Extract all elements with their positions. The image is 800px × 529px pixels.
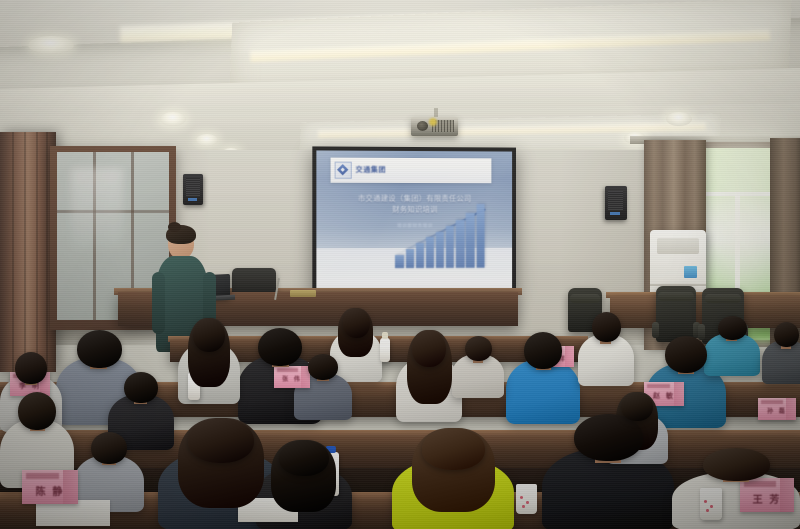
name-card-header [744, 481, 775, 486]
audience-head [665, 336, 707, 373]
name-card-header [761, 400, 783, 404]
audience-head [774, 322, 799, 347]
paper-cup-center-front [516, 484, 537, 514]
name-card-row2-mid: 张 伟 [274, 366, 310, 388]
audience-head [18, 392, 56, 430]
cup-heart-pattern [526, 501, 529, 504]
name-card-front-left: 陈 静 [22, 470, 78, 504]
cup-heart-pattern [522, 505, 525, 508]
audience-head [91, 432, 127, 464]
audience-head [465, 336, 492, 361]
audience-head [703, 448, 770, 481]
cup-heart-pattern [704, 500, 707, 503]
audience-head [124, 372, 158, 403]
name-card-header [26, 473, 58, 478]
audience-head [77, 330, 122, 368]
audience-head [279, 440, 329, 476]
audience-head [524, 332, 562, 369]
audience-head [343, 308, 370, 338]
conference-room-photo: 交通集团 市交通建设（集团）有限责任公司 财务知识培训 培训部财务培训 [0, 0, 800, 529]
name-card-fold [780, 478, 794, 512]
name-card-front-right: 王 芳 [740, 478, 794, 512]
audience-head [188, 418, 254, 463]
name-card-fold [63, 470, 78, 504]
paper-cup-right-front [700, 488, 722, 520]
name-card-fold [786, 398, 796, 420]
beverage-bottle-mid [380, 338, 390, 362]
cup-heart-pattern [706, 509, 709, 512]
audience-head [308, 354, 338, 380]
audience-head [592, 312, 621, 342]
bottle-cap [382, 332, 388, 339]
audience-head [15, 352, 47, 384]
name-card-back-far: 孙 磊 [758, 398, 796, 420]
audience-head [718, 316, 747, 340]
cup-heart-pattern [710, 505, 713, 508]
cup-heart-pattern [520, 496, 523, 499]
bottle-label [380, 345, 390, 356]
name-card-header [277, 368, 298, 372]
audience-head [258, 328, 302, 366]
audience-head [574, 414, 643, 461]
audience-head [412, 330, 446, 367]
audience-head [193, 318, 225, 352]
name-card-fold [674, 382, 684, 406]
name-card-header [647, 384, 670, 388]
audience-head [422, 428, 485, 470]
audience-head [621, 392, 653, 421]
name-card-fold [565, 346, 574, 367]
